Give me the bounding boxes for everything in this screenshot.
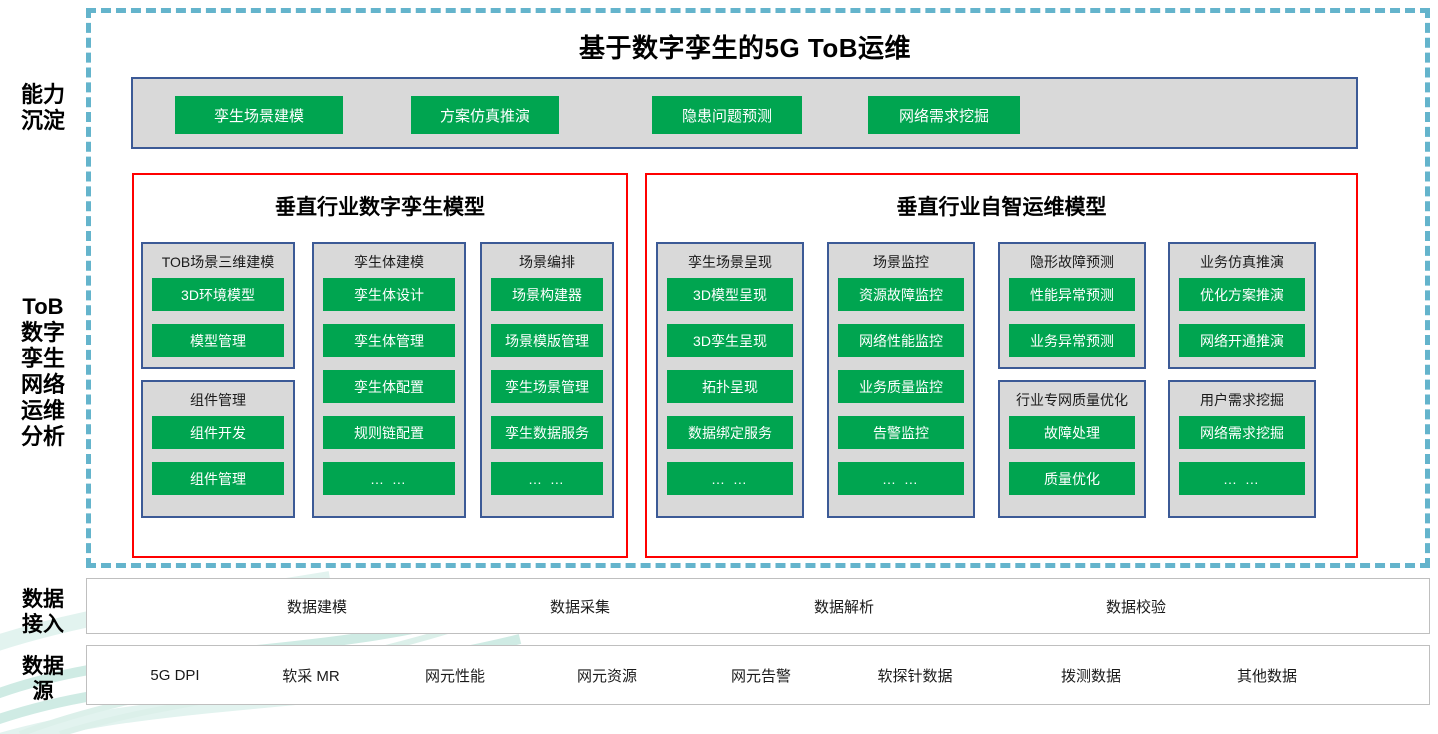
subcard-business-simulation: 业务仿真推演 优化方案推演 网络开通推演 xyxy=(1168,242,1316,369)
capability-chip-3[interactable]: 网络需求挖掘 xyxy=(868,96,1020,134)
chip[interactable]: 告警监控 xyxy=(838,416,964,449)
chip[interactable]: 网络开通推演 xyxy=(1179,324,1305,357)
subcard-private-network-quality: 行业专网质量优化 故障处理 质量优化 xyxy=(998,380,1146,518)
chip[interactable]: 业务质量监控 xyxy=(838,370,964,403)
chip[interactable]: 孪生数据服务 xyxy=(491,416,603,449)
panel-right-title: 垂直行业自智运维模型 xyxy=(647,191,1356,221)
data-access-item-0: 数据建模 xyxy=(217,579,417,633)
chip[interactable]: 拓扑呈现 xyxy=(667,370,793,403)
diagram-root: 能力 沉淀 ToB 数字 孪生 网络 运维 分析 数据 接入 数据 源 基于数字… xyxy=(0,0,1438,734)
rail-label-capability: 能力 沉淀 xyxy=(6,82,80,134)
subcard-title: 用户需求挖掘 xyxy=(1170,390,1314,410)
panel-autonomous-ops-model: 垂直行业自智运维模型 孪生场景呈现 3D模型呈现 3D孪生呈现 拓扑呈现 数据绑… xyxy=(645,173,1358,558)
chip[interactable]: 组件开发 xyxy=(152,416,284,449)
data-source-strip: 5G DPI 软采 MR 网元性能 网元资源 网元告警 软探针数据 拨测数据 其… xyxy=(86,645,1430,705)
chip[interactable]: 优化方案推演 xyxy=(1179,278,1305,311)
data-source-item-6: 拨测数据 xyxy=(1019,646,1163,704)
subcard-title: 场景编排 xyxy=(482,252,612,272)
subcard-scene-monitoring: 场景监控 资源故障监控 网络性能监控 业务质量监控 告警监控 … … xyxy=(827,242,975,518)
chip[interactable]: 孪生体设计 xyxy=(323,278,455,311)
chip[interactable]: 孪生场景管理 xyxy=(491,370,603,403)
chip[interactable]: 网络需求挖掘 xyxy=(1179,416,1305,449)
subcard-twin-scene-presentation: 孪生场景呈现 3D模型呈现 3D孪生呈现 拓扑呈现 数据绑定服务 … … xyxy=(656,242,804,518)
panel-left-title: 垂直行业数字孪生模型 xyxy=(134,191,626,221)
subcard-title: 孪生体建模 xyxy=(314,252,464,272)
chip[interactable]: … … xyxy=(1179,462,1305,495)
rail-label-data-source: 数据 源 xyxy=(6,655,80,705)
data-source-item-5: 软探针数据 xyxy=(843,646,987,704)
data-source-item-7: 其他数据 xyxy=(1195,646,1339,704)
chip[interactable]: … … xyxy=(323,462,455,495)
data-source-item-3: 网元资源 xyxy=(535,646,679,704)
subcard-component-management: 组件管理 组件开发 组件管理 xyxy=(141,380,295,518)
rail-label-tob-analysis: ToB 数字 孪生 网络 运维 分析 xyxy=(6,294,80,450)
data-access-item-3: 数据校验 xyxy=(1036,579,1236,633)
page-title: 基于数字孪生的5G ToB运维 xyxy=(130,28,1360,65)
chip[interactable]: 孪生体配置 xyxy=(323,370,455,403)
subcard-user-demand-mining: 用户需求挖掘 网络需求挖掘 … … xyxy=(1168,380,1316,518)
chip[interactable]: … … xyxy=(491,462,603,495)
chip[interactable]: 资源故障监控 xyxy=(838,278,964,311)
capability-bar: 孪生场景建模 方案仿真推演 隐患问题预测 网络需求挖掘 xyxy=(131,77,1358,149)
subcard-title: TOB场景三维建模 xyxy=(143,252,293,272)
data-access-item-1: 数据采集 xyxy=(480,579,680,633)
subcard-tob-3d-modeling: TOB场景三维建模 3D环境模型 模型管理 xyxy=(141,242,295,369)
chip[interactable]: 孪生体管理 xyxy=(323,324,455,357)
chip[interactable]: 网络性能监控 xyxy=(838,324,964,357)
rail-label-data-access: 数据 接入 xyxy=(6,588,80,638)
chip[interactable]: 质量优化 xyxy=(1009,462,1135,495)
chip[interactable]: 3D环境模型 xyxy=(152,278,284,311)
subcard-title: 行业专网质量优化 xyxy=(1000,390,1144,410)
chip[interactable]: 业务异常预测 xyxy=(1009,324,1135,357)
data-source-item-2: 网元性能 xyxy=(383,646,527,704)
chip[interactable]: 故障处理 xyxy=(1009,416,1135,449)
capability-chip-1[interactable]: 方案仿真推演 xyxy=(411,96,559,134)
data-source-item-4: 网元告警 xyxy=(689,646,833,704)
subcard-title: 业务仿真推演 xyxy=(1170,252,1314,272)
subcard-title: 组件管理 xyxy=(143,390,293,410)
subcard-scene-orchestration: 场景编排 场景构建器 场景模版管理 孪生场景管理 孪生数据服务 … … xyxy=(480,242,614,518)
subcard-title: 场景监控 xyxy=(829,252,973,272)
capability-chip-0[interactable]: 孪生场景建模 xyxy=(175,96,343,134)
data-source-item-1: 软采 MR xyxy=(239,646,383,704)
subcard-title: 孪生场景呈现 xyxy=(658,252,802,272)
chip[interactable]: 模型管理 xyxy=(152,324,284,357)
subcard-twin-body-modeling: 孪生体建模 孪生体设计 孪生体管理 孪生体配置 规则链配置 … … xyxy=(312,242,466,518)
chip[interactable]: 性能异常预测 xyxy=(1009,278,1135,311)
chip[interactable]: … … xyxy=(838,462,964,495)
chip[interactable]: 数据绑定服务 xyxy=(667,416,793,449)
chip[interactable]: 3D模型呈现 xyxy=(667,278,793,311)
data-source-item-0: 5G DPI xyxy=(103,646,247,704)
chip[interactable]: … … xyxy=(667,462,793,495)
chip[interactable]: 场景构建器 xyxy=(491,278,603,311)
chip[interactable]: 组件管理 xyxy=(152,462,284,495)
subcard-title: 隐形故障预测 xyxy=(1000,252,1144,272)
panel-digital-twin-model: 垂直行业数字孪生模型 TOB场景三维建模 3D环境模型 模型管理 组件管理 组件… xyxy=(132,173,628,558)
capability-chip-2[interactable]: 隐患问题预测 xyxy=(652,96,802,134)
chip[interactable]: 场景模版管理 xyxy=(491,324,603,357)
data-access-item-2: 数据解析 xyxy=(744,579,944,633)
background-swoosh-decoration xyxy=(0,544,720,734)
chip[interactable]: 3D孪生呈现 xyxy=(667,324,793,357)
chip[interactable]: 规则链配置 xyxy=(323,416,455,449)
subcard-hidden-fault-prediction: 隐形故障预测 性能异常预测 业务异常预测 xyxy=(998,242,1146,369)
data-access-strip: 数据建模 数据采集 数据解析 数据校验 xyxy=(86,578,1430,634)
